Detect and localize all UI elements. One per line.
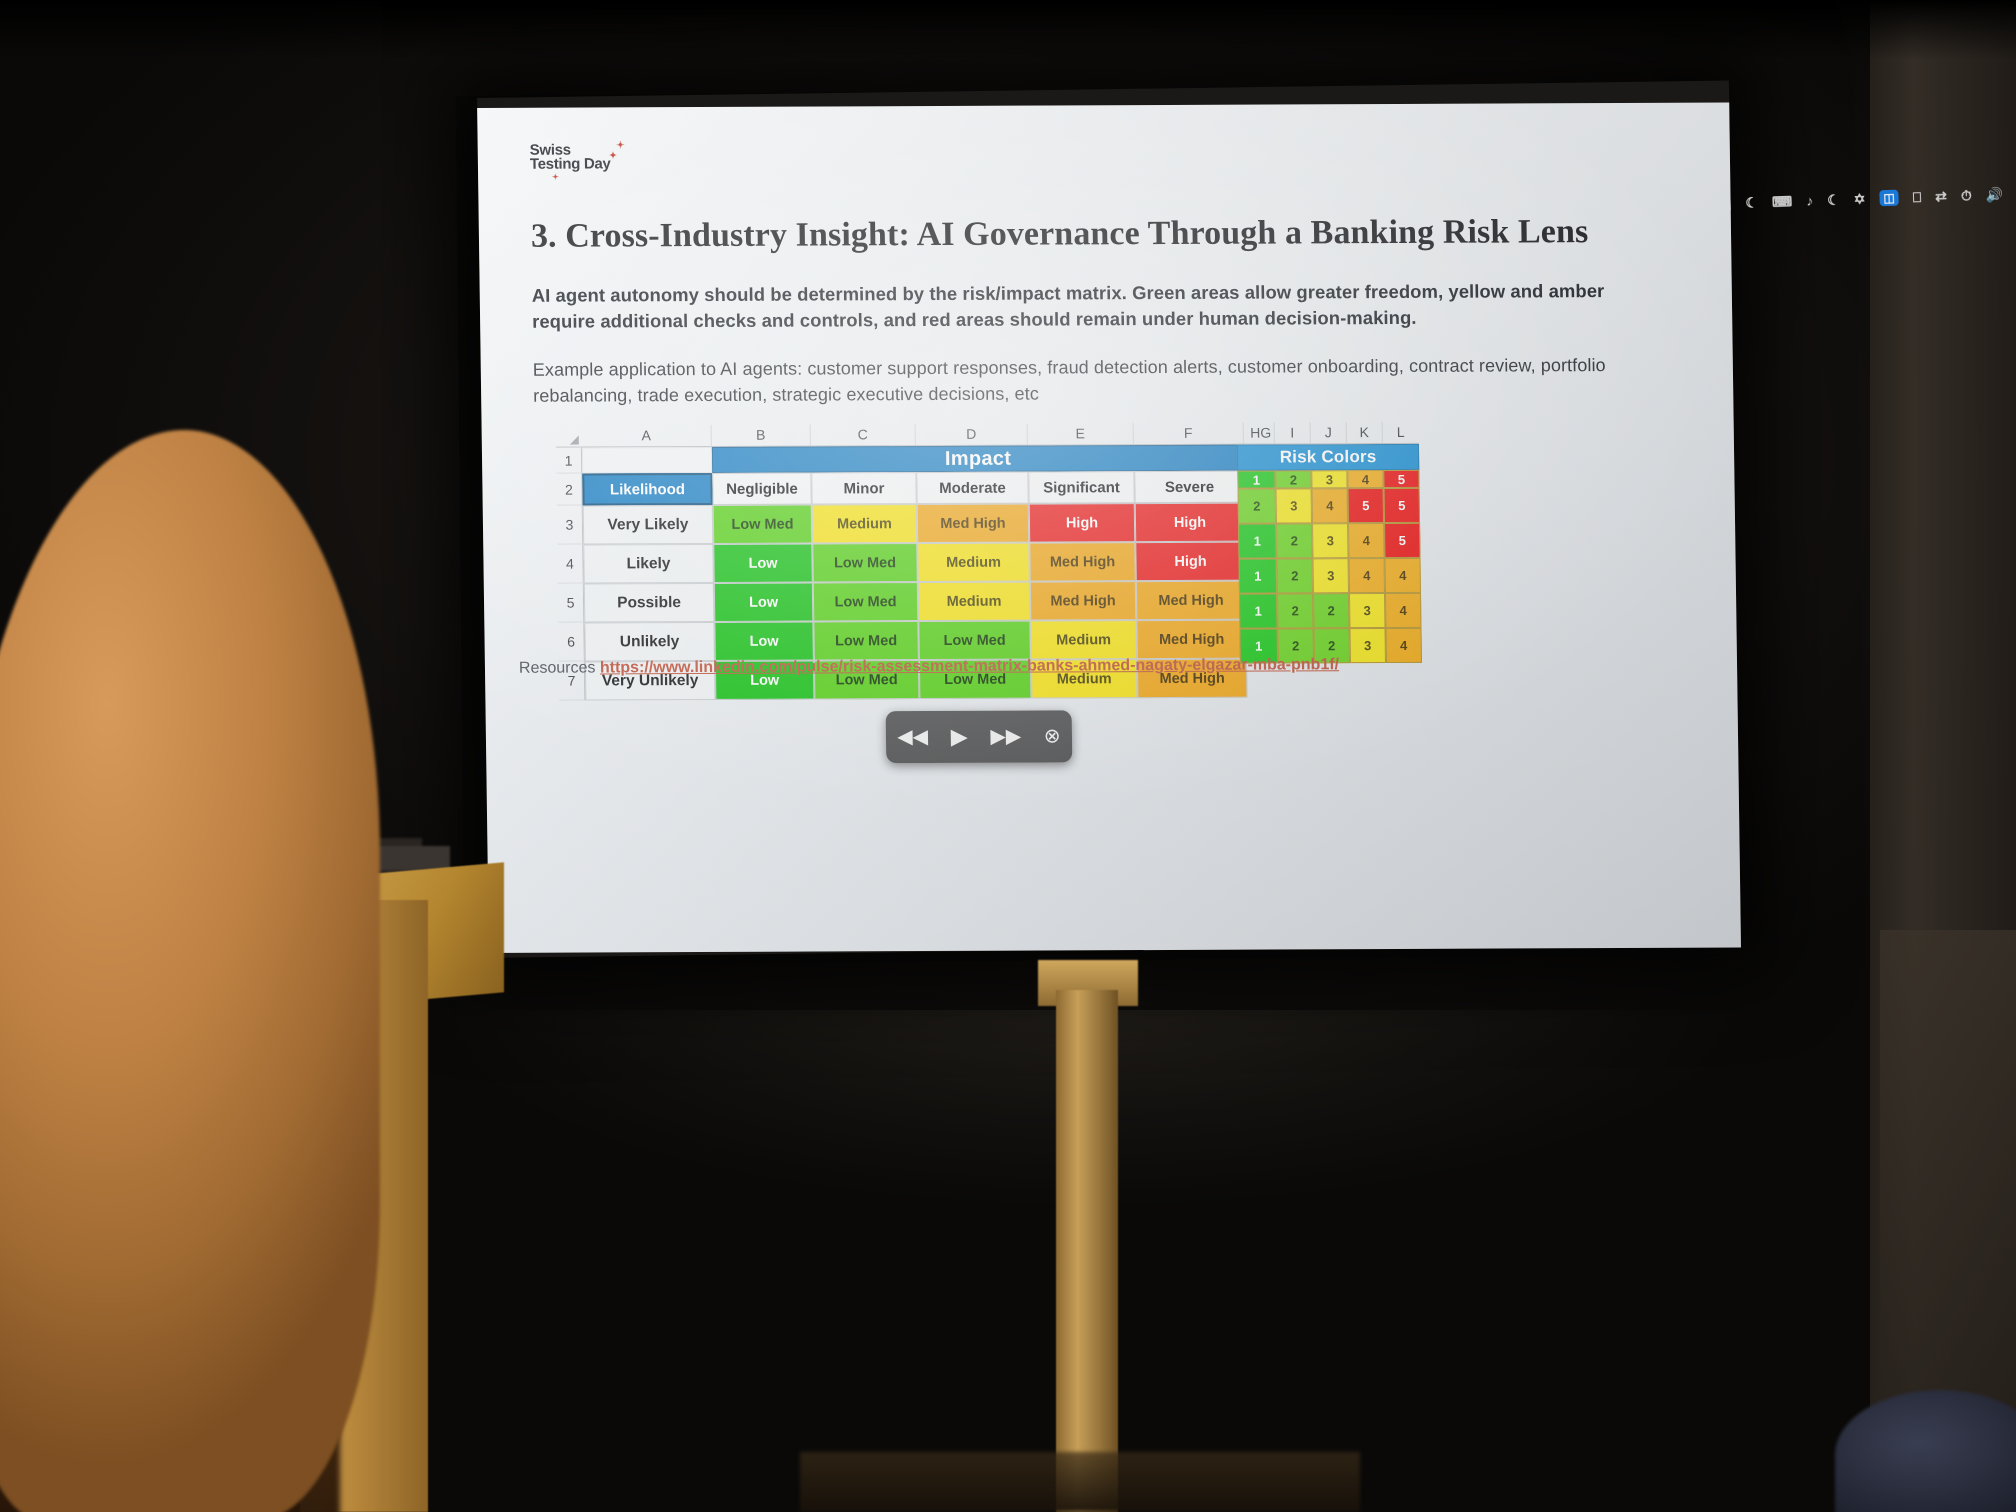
column-header-i[interactable]: I (1275, 422, 1311, 444)
matrix-cell-e5[interactable]: Med High (1030, 581, 1137, 620)
legend-column-header-row: H I J K L (1237, 422, 1419, 445)
legend-cell-k1[interactable]: 4 (1347, 470, 1383, 488)
resources-label: Resources (519, 659, 596, 676)
matrix-cell-c5[interactable]: Low Med (813, 582, 919, 621)
matrix-cell-f3[interactable]: High (1135, 503, 1246, 542)
legend-cell-l4[interactable]: 4 (1385, 558, 1421, 593)
matrix-cell-b3[interactable]: Low Med (713, 505, 813, 544)
spreadsheet-row-6: 6 Unlikely Low Low Med Low Med Medium Me… (558, 619, 1291, 661)
row-header-4[interactable]: 4 (557, 545, 584, 584)
matrix-cell-c3[interactable]: Medium (812, 504, 918, 543)
fast-forward-icon[interactable]: ▶▶ (990, 727, 1021, 747)
audience-person-silhouette (0, 430, 380, 1512)
column-header-l[interactable]: L (1383, 422, 1419, 444)
column-header-d[interactable]: D (916, 424, 1028, 446)
matrix-cell-f5[interactable]: Med High (1136, 581, 1247, 620)
impact-header-minor[interactable]: Minor (811, 472, 916, 504)
legend-cell-l3[interactable]: 5 (1384, 523, 1420, 558)
legend-cell-k5[interactable]: 3 (1349, 593, 1385, 628)
legend-cell-k6[interactable]: 3 (1349, 628, 1385, 663)
legend-cell-l1[interactable]: 5 (1383, 470, 1419, 488)
spreadsheet-row-1: 1 Impact (556, 444, 1288, 473)
row-header-2[interactable]: 2 (556, 474, 582, 506)
preview-playback-hud[interactable]: ◀◀ ▶ ▶▶ ⊗ (886, 710, 1073, 763)
legend-cell-k2[interactable]: 5 (1348, 488, 1384, 523)
matrix-cell-c6[interactable]: Low Med (813, 621, 919, 660)
cell-a1[interactable] (582, 447, 712, 474)
volume-icon[interactable]: 🔊 (1985, 186, 2003, 204)
monitor-icon[interactable]: ⎕ (1912, 188, 1921, 205)
column-header-k[interactable]: K (1347, 422, 1383, 444)
legend-cell-j1[interactable]: 3 (1311, 470, 1347, 488)
legend-cell-l6[interactable]: 4 (1385, 628, 1421, 663)
resources-line: Resources https://www.linkedin.com/pulse… (519, 656, 1339, 678)
crescent-icon[interactable]: ☾ (1827, 191, 1840, 208)
select-all-corner-icon[interactable] (556, 426, 582, 448)
legend-row-3: 1 2 3 4 5 (1238, 523, 1420, 559)
legend-row-5: 1 2 2 3 4 (1239, 593, 1421, 629)
row-header-1[interactable]: 1 (556, 448, 582, 474)
likelihood-unlikely[interactable]: Unlikely (584, 622, 715, 662)
play-icon[interactable]: ▶ (951, 726, 968, 748)
legend-cell-l2[interactable]: 5 (1384, 488, 1420, 523)
column-header-a[interactable]: A (582, 425, 712, 448)
matrix-cell-e6[interactable]: Medium (1030, 620, 1137, 659)
rewind-icon[interactable]: ◀◀ (897, 727, 928, 747)
logo-star-icon-3: ✦ (552, 174, 559, 182)
matrix-cell-f4[interactable]: High (1135, 542, 1246, 581)
slide-paragraph-bold: AI agent autonomy should be determined b… (532, 278, 1651, 335)
spreadsheet-row-4: 4 Likely Low Low Med Medium Med High Hig… (557, 541, 1290, 583)
impact-header-significant[interactable]: Significant (1028, 471, 1134, 503)
risk-colors-legend[interactable]: H I J K L Risk Colors 1 2 3 4 5 2 3 4 5 … (1237, 422, 1422, 664)
legend-title[interactable]: Risk Colors (1237, 444, 1419, 471)
column-header-h[interactable]: H (1237, 423, 1275, 445)
close-icon[interactable]: ⊗ (1044, 726, 1061, 746)
row-header-3[interactable]: 3 (557, 506, 584, 545)
legend-cell-i2[interactable]: 3 (1276, 488, 1312, 523)
row-header-5[interactable]: 5 (558, 584, 585, 623)
legend-cell-j3[interactable]: 3 (1312, 523, 1348, 558)
matrix-cell-e4[interactable]: Med High (1029, 542, 1136, 581)
legend-cell-j4[interactable]: 3 (1313, 558, 1349, 593)
legend-row-1: 1 2 3 4 5 (1237, 470, 1419, 489)
matrix-cell-e3[interactable]: High (1029, 503, 1136, 542)
logo-line-2: Testing Day (530, 158, 611, 173)
resources-link[interactable]: https://www.linkedin.com/pulse/risk-asse… (600, 656, 1339, 676)
legend-cell-l5[interactable]: 4 (1385, 593, 1421, 628)
legend-cell-i1[interactable]: 2 (1275, 470, 1311, 488)
logo-star-icon: ✦ (616, 141, 624, 151)
moon-icon[interactable]: ☾ (1745, 194, 1758, 211)
impact-band-label[interactable]: Impact (712, 445, 1244, 473)
screen-share-icon[interactable]: ◫ (1879, 190, 1899, 207)
matrix-cell-b4[interactable]: Low (713, 544, 813, 583)
shuffle-icon[interactable]: ⇄ (1935, 188, 1947, 205)
likelihood-likely[interactable]: Likely (583, 544, 714, 584)
matrix-cell-d6[interactable]: Low Med (918, 621, 1031, 660)
column-header-f[interactable]: F (1134, 423, 1244, 445)
matrix-cell-b5[interactable]: Low (714, 583, 814, 622)
spreadsheet-row-5: 5 Possible Low Low Med Medium Med High M… (558, 580, 1291, 622)
matrix-cell-d5[interactable]: Medium (918, 582, 1031, 621)
matrix-cell-d3[interactable]: Med High (917, 504, 1030, 543)
bluetooth-icon[interactable]: ✡ (1853, 190, 1865, 207)
ceiling-shadow (0, 0, 2016, 60)
likelihood-possible[interactable]: Possible (584, 583, 715, 623)
likelihood-very-likely[interactable]: Very Likely (583, 505, 714, 545)
legend-cell-j5[interactable]: 2 (1313, 593, 1349, 628)
matrix-cell-b6[interactable]: Low (714, 622, 814, 661)
projection-screen:  Preview File Edit View Go Tools Window… (477, 81, 1741, 958)
matrix-cell-c4[interactable]: Low Med (812, 543, 918, 582)
legend-cell-h4[interactable]: 1 (1239, 558, 1277, 593)
slide-paragraph: Example application to AI agents: custom… (533, 353, 1624, 409)
legend-cell-i5[interactable]: 2 (1277, 593, 1313, 628)
spreadsheet-row-2: 2 Likelihood Negligible Minor Moderate S… (556, 470, 1288, 505)
column-header-b[interactable]: B (712, 425, 811, 447)
legend-cell-i4[interactable]: 2 (1277, 558, 1313, 593)
legend-cell-h2[interactable]: 2 (1238, 489, 1276, 524)
impact-header-moderate[interactable]: Moderate (916, 472, 1028, 504)
slide-canvas: Swiss Testing Day ✦ ✦ ✦ 3. Cross-Industr… (477, 103, 1741, 953)
legend-cell-j2[interactable]: 4 (1312, 488, 1348, 523)
spreadsheet-row-3: 3 Very Likely Low Med Medium Med High Hi… (557, 502, 1290, 544)
spreadsheet-column-header-row: A B C D E F G (556, 422, 1288, 447)
column-header-e[interactable]: E (1028, 423, 1134, 445)
legend-row-2: 2 3 4 5 5 (1238, 488, 1420, 524)
headphones-icon[interactable]: ♪ (1806, 192, 1814, 208)
legend-cell-i3[interactable]: 2 (1276, 523, 1312, 558)
legend-cell-h5[interactable]: 1 (1239, 593, 1277, 628)
keyboard-icon[interactable]: ⌨ (1772, 193, 1793, 211)
impact-header-severe[interactable]: Severe (1134, 471, 1244, 503)
legend-cell-h3[interactable]: 1 (1238, 523, 1276, 558)
row-header-6[interactable]: 6 (558, 623, 585, 662)
impact-header-negligible[interactable]: Negligible (712, 473, 811, 505)
legend-cell-k4[interactable]: 4 (1349, 558, 1385, 593)
logo-star-icon-2: ✦ (609, 151, 616, 160)
legend-cell-h1[interactable]: 1 (1237, 471, 1275, 489)
legend-cell-k3[interactable]: 4 (1348, 523, 1384, 558)
likelihood-header[interactable]: Likelihood (582, 473, 712, 506)
matrix-cell-f6[interactable]: Med High (1136, 620, 1247, 659)
screen-stand-column (1056, 990, 1118, 1512)
swiss-testing-day-logo: Swiss Testing Day ✦ ✦ ✦ (530, 143, 611, 172)
page-title: 3. Cross-Industry Insight: AI Governance… (531, 213, 1652, 256)
legend-row-4: 1 2 3 4 4 (1239, 558, 1421, 594)
column-header-c[interactable]: C (811, 424, 916, 446)
screen-stand-base (800, 1452, 1360, 1512)
column-header-j[interactable]: J (1311, 422, 1347, 444)
clock-icon[interactable]: ⏱ (1961, 187, 1972, 204)
matrix-cell-d4[interactable]: Medium (917, 543, 1030, 582)
